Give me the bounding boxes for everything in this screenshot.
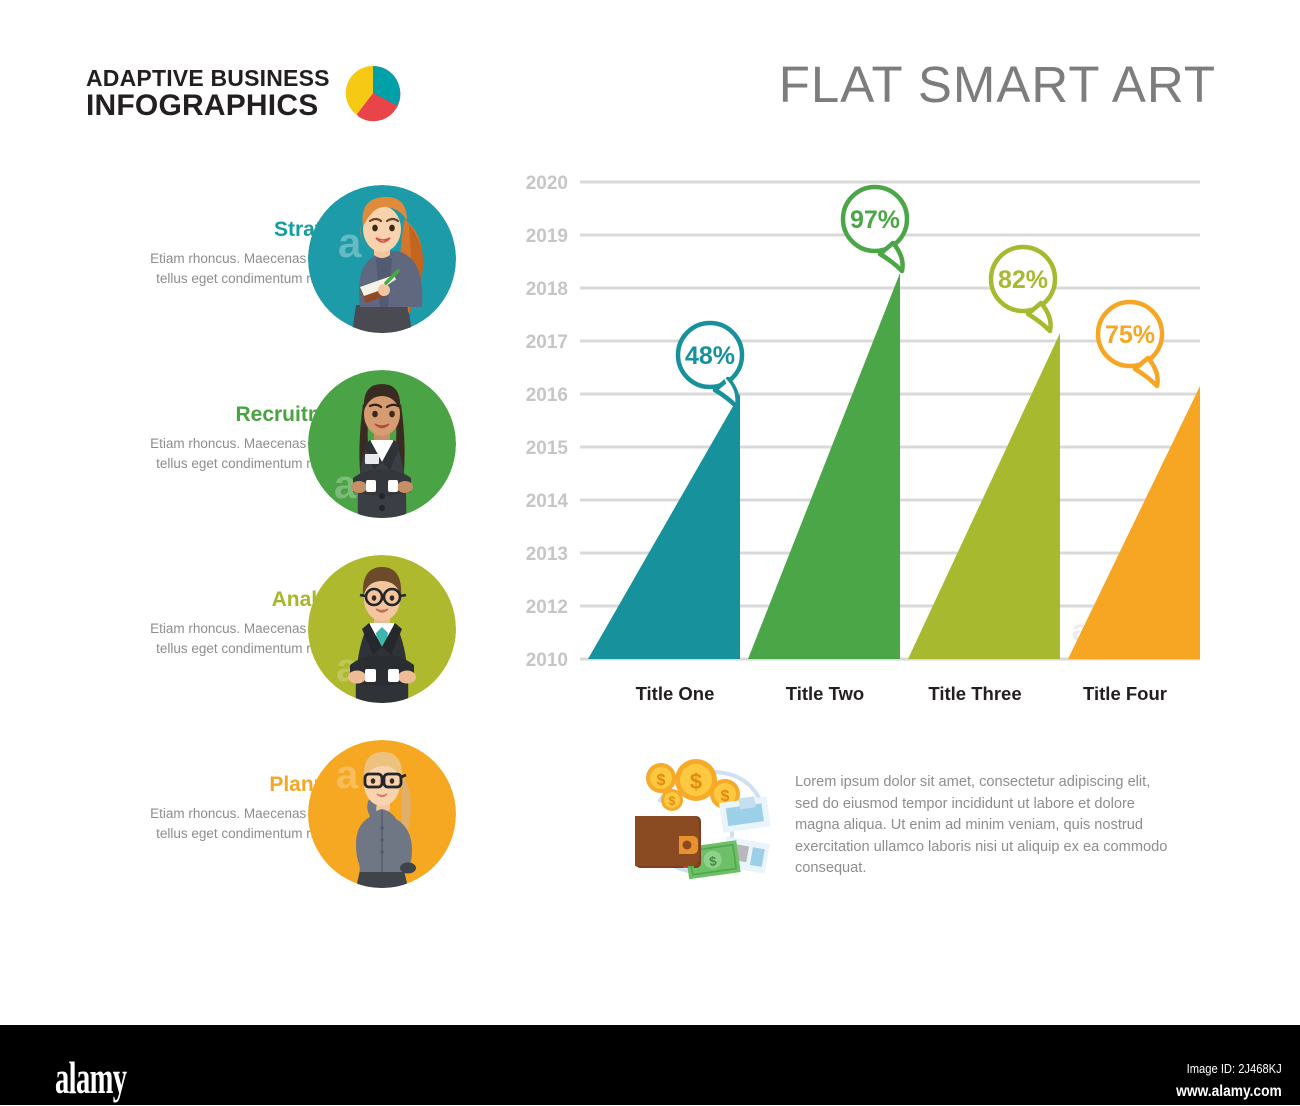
bar-title-two <box>748 273 900 659</box>
svg-text:$: $ <box>669 794 676 808</box>
brand-text: ADAPTIVE BUSINESS INFOGRAPHICS <box>86 67 330 121</box>
chart-x-axis: Title One Title Two Title Three Title Fo… <box>600 683 1200 705</box>
wallet-money-icon: $ $ $ $ <box>625 754 775 887</box>
y-tick-label: 2016 <box>526 385 568 406</box>
feature-list: Strategy Etiam rhoncus. Maecenas tempus,… <box>80 175 480 915</box>
page-title: FLAT SMART ART <box>779 55 1216 114</box>
brand-logo: ADAPTIVE BUSINESS INFOGRAPHICS <box>86 62 402 127</box>
y-tick-label: 2012 <box>526 597 568 618</box>
bottom-body-text: Lorem ipsum dolor sit amet, consectetur … <box>795 772 1175 880</box>
y-tick-label: 2017 <box>526 332 568 353</box>
feature-item-planning[interactable]: Planning Etiam rhoncus. Maecenas tempus,… <box>80 730 480 915</box>
bar-title-four <box>1068 386 1200 659</box>
y-tick-label: 2010 <box>526 650 568 671</box>
chart-value-callouts: 48% 97% 82% 75% <box>678 187 1162 407</box>
watermark-bar: alamy Image ID: 2J468KJ www.alamy.com <box>0 1025 1300 1105</box>
pie-chart-icon <box>344 64 402 127</box>
svg-text:a: a <box>338 219 362 266</box>
alamy-logo: alamy <box>55 1057 126 1098</box>
callout-title-four: 75% <box>1098 302 1162 386</box>
y-tick-label: 2013 <box>526 544 568 565</box>
y-tick-label: 2018 <box>526 279 568 300</box>
callout-value: 48% <box>685 342 735 370</box>
avatar-analysis: a <box>308 555 456 703</box>
avatar-recruitment: a <box>308 370 456 518</box>
svg-text:a: a <box>336 753 359 797</box>
feature-item-strategy[interactable]: Strategy Etiam rhoncus. Maecenas tempus,… <box>80 175 480 360</box>
slide-canvas: ADAPTIVE BUSINESS INFOGRAPHICS FLAT SMAR… <box>0 0 1300 1025</box>
svg-text:$: $ <box>690 769 702 794</box>
y-tick-label: 2020 <box>526 173 568 194</box>
watermark-meta: Image ID: 2J468KJ www.alamy.com <box>1176 1058 1282 1106</box>
callout-value: 82% <box>998 266 1048 294</box>
x-tick-label: Title Four <box>1050 683 1200 705</box>
x-tick-label: Title Three <box>900 683 1050 705</box>
y-tick-label: 2015 <box>526 438 569 459</box>
feature-item-analysis[interactable]: Analysis Etiam rhoncus. Maecenas tempus,… <box>80 545 480 730</box>
bar-title-three <box>908 333 1060 659</box>
callout-value: 97% <box>850 206 900 234</box>
bar-title-one <box>588 394 740 659</box>
feature-item-recruitment[interactable]: Recruitment Etiam rhoncus. Maecenas temp… <box>80 360 480 545</box>
avatar-strategy: a <box>308 185 456 333</box>
callout-value: 75% <box>1105 321 1155 349</box>
brand-line-2: INFOGRAPHICS <box>86 91 330 122</box>
alamy-url: www.alamy.com <box>1176 1079 1282 1105</box>
brand-line-1: ADAPTIVE BUSINESS <box>86 67 330 90</box>
x-tick-label: Title Two <box>750 683 900 705</box>
triangle-bar-chart: 2020 2019 2018 2017 2016 2015 2014 2013 … <box>520 170 1220 730</box>
y-tick-label: 2014 <box>526 491 569 512</box>
y-tick-label: 2019 <box>526 226 568 247</box>
chart-y-axis: 2020 2019 2018 2017 2016 2015 2014 2013 … <box>526 173 569 671</box>
image-id: Image ID: 2J468KJ <box>1176 1058 1282 1079</box>
bottom-description-block: $ $ $ $ <box>625 748 1195 887</box>
callout-title-two: 97% <box>843 187 907 271</box>
x-tick-label: Title One <box>600 683 750 705</box>
svg-text:$: $ <box>657 772 666 789</box>
avatar-planning: a <box>308 740 456 888</box>
callout-title-three: 82% <box>991 247 1055 331</box>
